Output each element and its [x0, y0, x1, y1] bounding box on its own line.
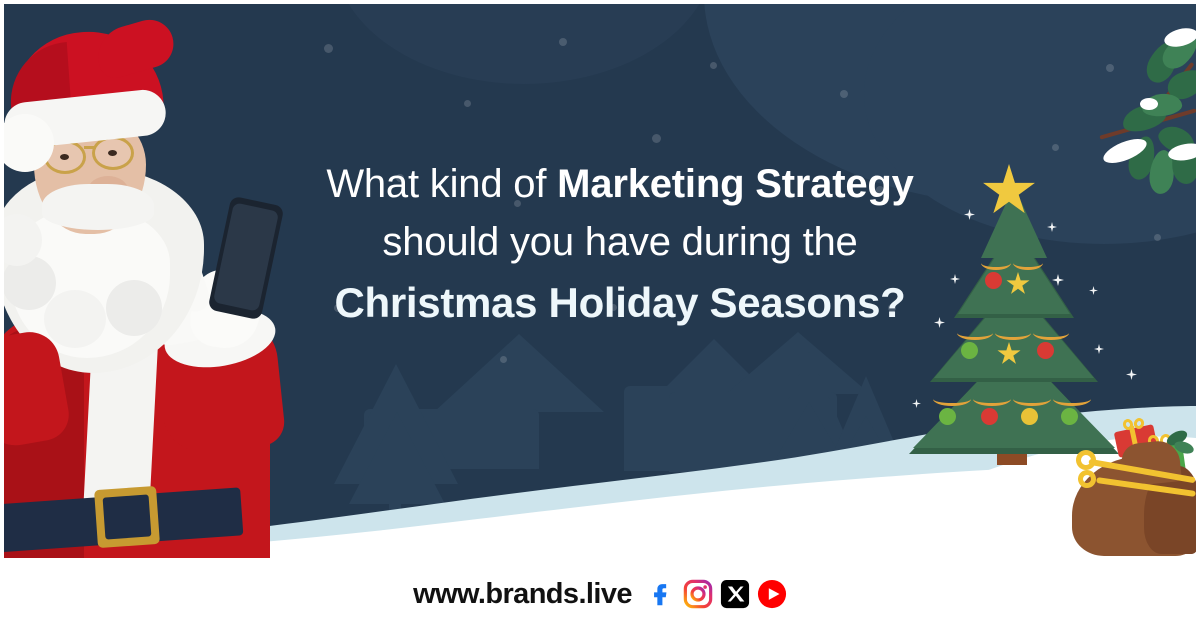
- tree-garland: [995, 326, 1031, 340]
- snow-dot: [324, 44, 333, 53]
- brand-url[interactable]: www.brands.live: [413, 578, 632, 611]
- snow-dot: [1154, 234, 1161, 241]
- x-twitter-icon[interactable]: [720, 579, 750, 609]
- santa-eye: [108, 150, 117, 156]
- smartphone-screen: [213, 202, 279, 311]
- tree-garland: [1033, 326, 1069, 340]
- headline-block: What kind of Marketing Strategy should y…: [300, 164, 940, 324]
- illustration-stage: What kind of Marketing Strategy should y…: [4, 4, 1196, 558]
- santa-claus-figure: [4, 18, 312, 558]
- tree-garland: [981, 256, 1011, 270]
- footer-bar: www.brands.live: [0, 558, 1200, 630]
- background-house-roof: [434, 334, 604, 412]
- snow-dot: [840, 90, 848, 98]
- tree-garland: [933, 392, 971, 406]
- headline-line-1-bold: Marketing Strategy: [557, 162, 914, 206]
- tree-ornament: [985, 272, 1002, 289]
- snow-dot: [652, 134, 661, 143]
- tree-ornament: [1021, 408, 1038, 425]
- tree-ornament: [961, 342, 978, 359]
- tree-garland: [1053, 392, 1091, 406]
- headline-line-2: should you have during the: [300, 222, 940, 262]
- instagram-icon[interactable]: [683, 579, 713, 609]
- tree-ornament: [1037, 342, 1054, 359]
- sack-neck: [1120, 439, 1182, 487]
- snow-dot: [559, 38, 567, 46]
- sky-blob: [334, 4, 714, 84]
- facebook-icon[interactable]: [646, 579, 676, 609]
- poster: What kind of Marketing Strategy should y…: [0, 0, 1200, 630]
- santa-moustache: [42, 184, 154, 230]
- youtube-icon[interactable]: [757, 579, 787, 609]
- santa-eye: [60, 154, 69, 160]
- headline-line-3: Christmas Holiday Seasons?: [300, 282, 940, 324]
- snow-dot: [1052, 144, 1059, 151]
- headline-line-1-regular: What kind of: [326, 162, 557, 206]
- snow-dot: [710, 62, 717, 69]
- tree-ornament: [939, 408, 956, 425]
- santa-glasses-bridge: [84, 146, 96, 149]
- social-links: [646, 579, 787, 609]
- snow-cap: [1140, 98, 1158, 110]
- snow-dot: [500, 356, 507, 363]
- tree-ornament: [981, 408, 998, 425]
- santa-belt-buckle-inner: [103, 494, 152, 539]
- santa-hat-tip: [91, 14, 179, 82]
- santa-beard-curl: [106, 280, 162, 336]
- tree-garland: [1013, 392, 1051, 406]
- santa-beard-curl: [44, 290, 106, 348]
- headline-line-1: What kind of Marketing Strategy: [300, 164, 940, 204]
- gift-sack: [1066, 422, 1196, 558]
- tree-garland: [1013, 256, 1043, 270]
- christmas-tree: [909, 164, 1119, 464]
- tree-garland: [973, 392, 1011, 406]
- sparkle-icon: [1126, 369, 1137, 380]
- tree-garland: [957, 326, 993, 340]
- snow-dot: [464, 100, 471, 107]
